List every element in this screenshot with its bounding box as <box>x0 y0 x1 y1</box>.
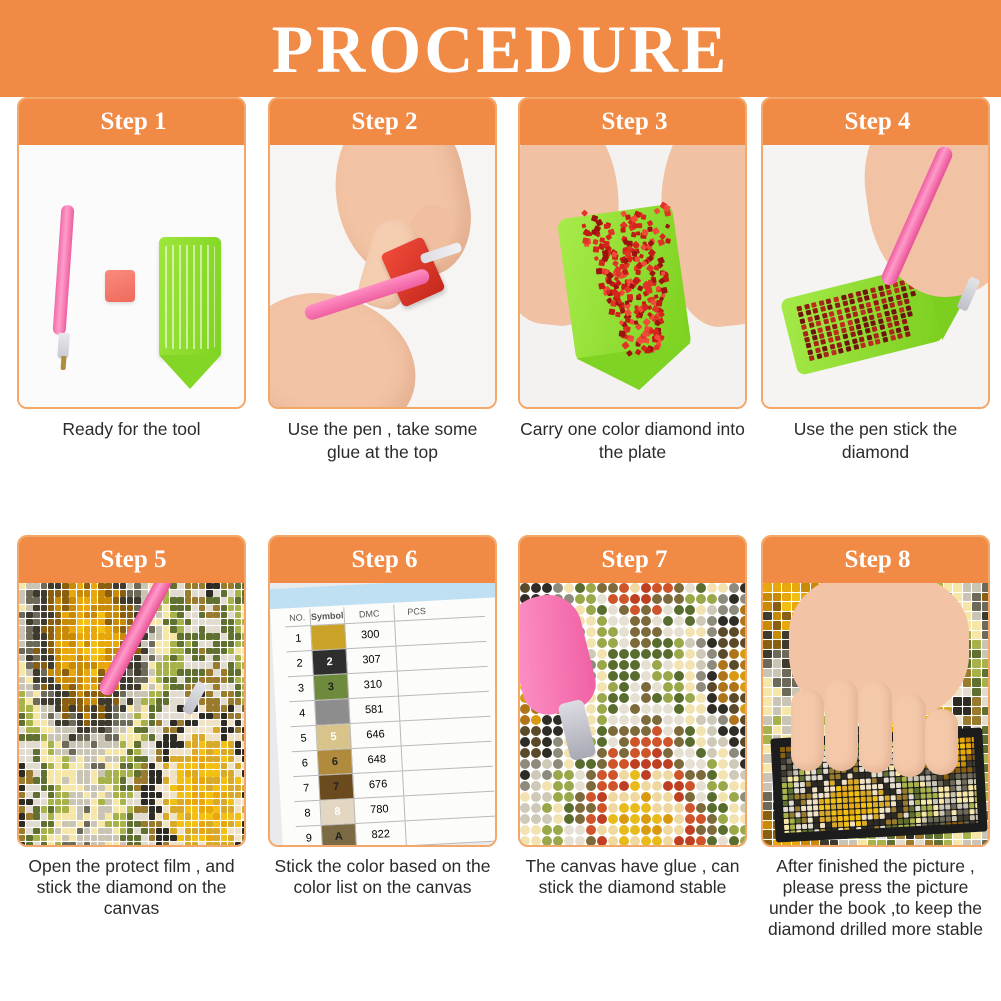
cell-dmc: 300 <box>345 622 396 649</box>
cell-pcs <box>403 769 448 795</box>
step-3-image <box>520 145 747 409</box>
step-3-badge: Step 3 <box>519 98 747 145</box>
tray-grooves <box>165 245 215 349</box>
step-7-image <box>520 583 747 847</box>
cell-pcs <box>402 744 447 770</box>
step-1-caption: Ready for the tool <box>17 418 246 441</box>
table-column-header: PCS <box>394 602 439 620</box>
cell-dmc: 822 <box>356 821 407 847</box>
cell-no: 1 <box>285 626 312 651</box>
steps-grid: Step 1 Ready for the tool <box>0 97 1001 1001</box>
step-7-badge-label: Step 7 <box>602 546 668 574</box>
step-5-badge-label: Step 5 <box>101 546 167 574</box>
cell-no: 2 <box>287 651 314 676</box>
step-card-5: Step 5 Open the protect film , and stick… <box>17 535 246 919</box>
step-card-4: Step 4 Use the pen stick the diamond <box>761 97 990 465</box>
step-7-badge: Step 7 <box>519 536 747 583</box>
cell-dmc: 648 <box>352 746 403 773</box>
cell-pcs <box>400 719 445 745</box>
step-card-1: Step 1 Ready for the tool <box>17 97 246 441</box>
cell-no: 4 <box>289 701 316 726</box>
cell-symbol: 3 <box>314 674 349 700</box>
page-title: PROCEDURE <box>272 15 730 83</box>
finger-icon <box>825 679 858 771</box>
pink-pen-icon <box>52 205 74 336</box>
step-card-8: Step 8 After finished the picture , plea… <box>761 535 990 940</box>
cell-symbol: 6 <box>318 749 353 775</box>
step-4-caption: Use the pen stick the diamond <box>761 418 990 465</box>
cell-symbol: 5 <box>316 724 351 750</box>
cell-no: 3 <box>288 676 315 701</box>
step-card-6: NO.SymbolDMCPCS1300223073331045815564666… <box>268 535 497 898</box>
pen-nib-icon <box>61 356 67 370</box>
step-1-badge-label: Step 1 <box>101 108 167 136</box>
cell-pcs <box>398 669 443 695</box>
color-list-sheet: NO.SymbolDMCPCS1300223073331045815564666… <box>270 583 497 847</box>
cell-pcs <box>406 819 451 845</box>
step-8-badge-label: Step 8 <box>845 546 911 574</box>
cell-symbol: 8 <box>320 799 355 825</box>
finger-icon <box>791 689 824 771</box>
step-5-caption: Open the protect film , and stick the di… <box>17 856 246 919</box>
cell-symbol: 7 <box>319 774 354 800</box>
step-7-photo-box: Step 7 <box>518 535 747 847</box>
step-card-2: Step 2 Use the pen , take some glue at t… <box>268 97 497 465</box>
cell-dmc: 832 <box>357 846 408 847</box>
step-7-caption: The canvas have glue , can stick the dia… <box>518 856 747 898</box>
cell-pcs <box>395 619 440 645</box>
cell-no: 8 <box>294 801 321 826</box>
step-3-badge-label: Step 3 <box>602 108 668 136</box>
step-2-badge-label: Step 2 <box>352 108 418 136</box>
step-1-badge: Step 1 <box>18 98 246 145</box>
step-5-photo-box: Step 5 <box>17 535 246 847</box>
cell-pcs <box>404 794 449 820</box>
cell-dmc: 310 <box>348 672 399 699</box>
steps-row-2: Step 5 Open the protect film , and stick… <box>0 535 1001 987</box>
cell-symbol <box>315 699 350 725</box>
cell-no: 7 <box>293 776 320 801</box>
step-card-3: Step 3 Carry one color diamond into the … <box>518 97 747 465</box>
header-banner: PROCEDURE <box>0 0 1001 97</box>
cell-dmc: 676 <box>353 771 404 798</box>
step-2-badge: Step 2 <box>269 98 497 145</box>
step-4-photo-box: Step 4 <box>761 97 990 409</box>
cell-no: 6 <box>292 751 319 776</box>
step-8-image <box>763 583 990 847</box>
step-2-image <box>270 145 497 409</box>
step-5-image <box>19 583 246 847</box>
step-1-image <box>19 145 246 409</box>
cell-dmc: 307 <box>346 647 397 674</box>
step-8-photo-box: Step 8 <box>761 535 990 847</box>
step-3-caption: Carry one color diamond into the plate <box>518 418 747 465</box>
cell-no: 9 <box>296 826 323 847</box>
cell-symbol: A <box>322 824 357 847</box>
step-card-7: Step 7 The canvas have glue , can stick … <box>518 535 747 898</box>
step-4-badge-label: Step 4 <box>845 108 911 136</box>
step-6-badge: Step 6 <box>269 536 497 583</box>
green-tray-icon <box>159 237 221 357</box>
steps-row-1: Step 1 Ready for the tool <box>0 97 1001 549</box>
table-column-header: Symbol <box>310 607 345 625</box>
step-3-photo-box: Step 3 <box>518 97 747 409</box>
step-8-caption: After finished the picture , please pres… <box>761 856 990 940</box>
color-code-table: NO.SymbolDMCPCS1300223073331045815564666… <box>284 600 496 847</box>
glue-square-icon <box>105 270 135 302</box>
step-2-photo-box: Step 2 <box>268 97 497 409</box>
step-8-badge: Step 8 <box>762 536 990 583</box>
step-4-image <box>763 145 990 409</box>
cell-pcs <box>396 644 441 670</box>
step-6-caption: Stick the color based on the color list … <box>268 856 497 898</box>
step-6-image: NO.SymbolDMCPCS1300223073331045815564666… <box>270 583 497 847</box>
table-column-header: NO. <box>284 609 311 626</box>
cell-symbol: 2 <box>313 649 348 675</box>
cell-dmc: 780 <box>354 796 405 823</box>
step-2-caption: Use the pen , take some glue at the top <box>268 418 497 465</box>
step-6-badge-label: Step 6 <box>352 546 418 574</box>
cell-no: 5 <box>291 726 318 751</box>
finger-icon <box>925 709 958 775</box>
step-4-badge: Step 4 <box>762 98 990 145</box>
finger-icon <box>893 693 926 777</box>
cell-symbol <box>311 624 346 650</box>
finger-icon <box>859 681 892 773</box>
cell-dmc: 646 <box>350 721 401 748</box>
cell-pcs <box>399 694 444 720</box>
step-5-badge: Step 5 <box>18 536 246 583</box>
cell-dmc: 581 <box>349 697 400 724</box>
table-column-header: DMC <box>344 605 395 624</box>
procedure-infographic: PROCEDURE <box>0 0 1001 1001</box>
step-1-photo-box: Step 1 <box>17 97 246 409</box>
step-6-photo-box: NO.SymbolDMCPCS1300223073331045815564666… <box>268 535 497 847</box>
